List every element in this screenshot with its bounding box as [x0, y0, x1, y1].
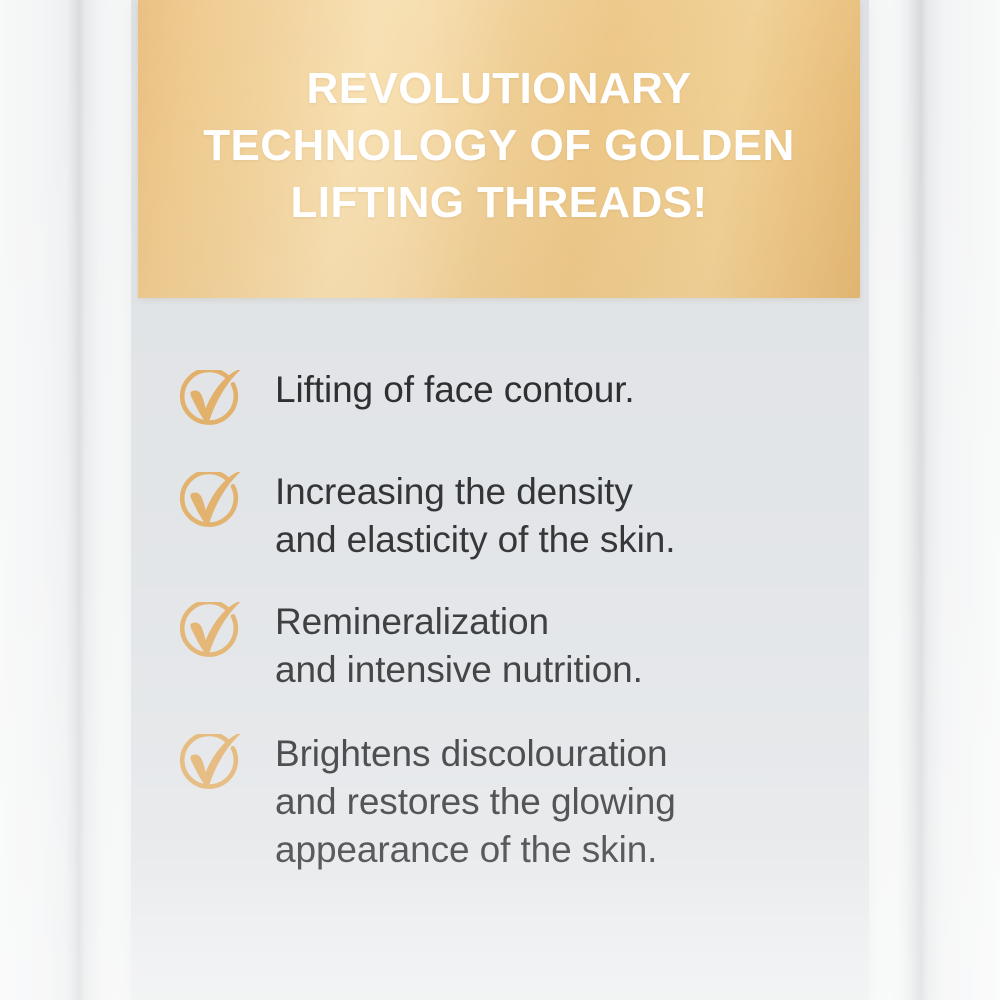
check-circle-icon	[172, 602, 246, 670]
list-item: Brightens discolouration and restores th…	[172, 730, 832, 874]
page-title: REVOLUTIONARY TECHNOLOGY OF GOLDEN LIFTI…	[163, 60, 834, 231]
list-item: Remineralization and intensive nutrition…	[172, 598, 832, 694]
check-circle-icon	[172, 734, 246, 802]
benefits-list: Lifting of face contour. Increasing the …	[172, 366, 832, 874]
benefit-text: Brightens discolouration and restores th…	[246, 730, 832, 874]
benefit-text: Lifting of face contour.	[246, 366, 832, 414]
infographic-card: REVOLUTIONARY TECHNOLOGY OF GOLDEN LIFTI…	[0, 0, 1000, 1000]
list-item: Increasing the density and elasticity of…	[172, 468, 832, 564]
list-item: Lifting of face contour.	[172, 366, 832, 438]
check-circle-icon	[172, 472, 246, 540]
benefit-text: Remineralization and intensive nutrition…	[246, 598, 832, 694]
benefit-text: Increasing the density and elasticity of…	[246, 468, 832, 564]
check-circle-icon	[172, 370, 246, 438]
header-banner: REVOLUTIONARY TECHNOLOGY OF GOLDEN LIFTI…	[138, 0, 860, 298]
